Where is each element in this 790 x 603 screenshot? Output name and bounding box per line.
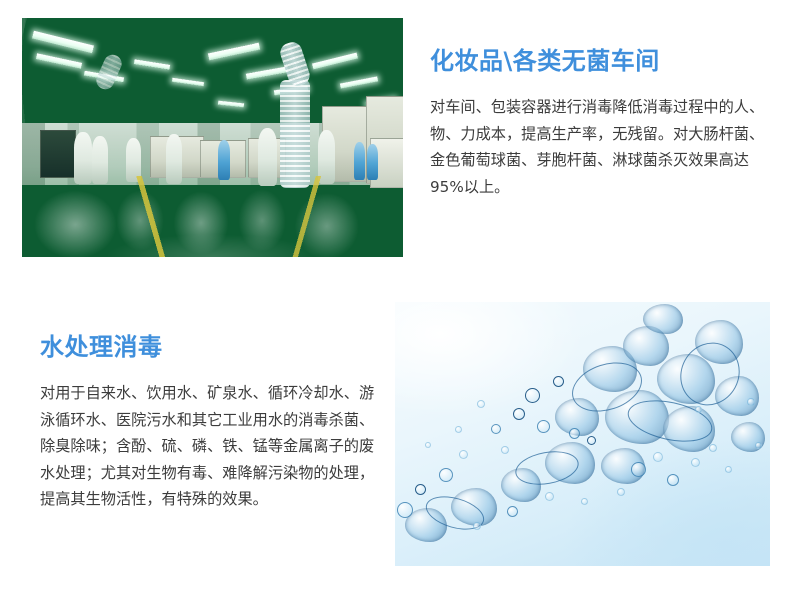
- cleanroom-photo: [22, 18, 403, 257]
- water-bubble: [537, 420, 550, 433]
- product-detail-page: 化妆品\各类无菌车间 对车间、包装容器进行消毒降低消毒过程中的人、物、力成本，提…: [0, 0, 790, 603]
- water-bubble: [725, 466, 732, 473]
- section-title-cosmetics: 化妆品\各类无菌车间: [430, 44, 770, 78]
- water-bubble: [569, 428, 580, 439]
- cleanroom-worker: [367, 144, 378, 180]
- water-bubble: [581, 498, 588, 505]
- water-bubble: [501, 446, 509, 454]
- water-bubble: [415, 484, 426, 495]
- water-bubble: [653, 452, 663, 462]
- water-bubble: [507, 506, 518, 517]
- water-bubble: [513, 408, 525, 420]
- water-bubble: [525, 388, 540, 403]
- water-bubble: [587, 436, 596, 445]
- water-bubble: [425, 442, 431, 448]
- water-bubbles-group: [395, 302, 770, 566]
- cleanroom-worker: [166, 134, 182, 184]
- section-body-water: 对用于自来水、饮用水、矿泉水、循环冷却水、游泳循环水、医院污水和其它工业用水的消…: [40, 380, 385, 513]
- cosmetics-text-block: 化妆品\各类无菌车间 对车间、包装容器进行消毒降低消毒过程中的人、物、力成本，提…: [430, 44, 770, 200]
- section-body-cosmetics: 对车间、包装容器进行消毒降低消毒过程中的人、物、力成本，提高生产率，无残留。对大…: [430, 94, 770, 200]
- cleanroom-floor: [22, 176, 403, 257]
- water-bubble: [617, 488, 625, 496]
- air-duct: [280, 80, 310, 188]
- cleanroom-worker: [258, 128, 277, 186]
- water-bubble: [747, 398, 755, 406]
- water-bubble: [545, 492, 554, 501]
- cleanroom-worker: [354, 142, 365, 180]
- water-bubble: [491, 424, 501, 434]
- cleanroom-worker: [318, 130, 335, 184]
- water-bubble: [691, 458, 700, 467]
- section-title-water: 水处理消毒: [40, 330, 385, 364]
- water-bubble: [473, 522, 481, 530]
- water-bubble: [631, 462, 646, 477]
- water-text-block: 水处理消毒 对用于自来水、饮用水、矿泉水、循环冷却水、游泳循环水、医院污水和其它…: [40, 330, 385, 513]
- cleanroom-worker: [126, 138, 141, 182]
- water-bubble: [455, 426, 462, 433]
- water-bubble: [667, 474, 679, 486]
- water-bubble: [459, 450, 468, 459]
- water-bubble: [397, 502, 413, 518]
- water-bubble: [439, 468, 453, 482]
- production-machine: [40, 130, 76, 178]
- water-bubble: [695, 406, 702, 413]
- cleanroom-worker: [92, 136, 108, 184]
- water-bubble: [553, 376, 564, 387]
- cleanroom-worker: [74, 132, 92, 184]
- water-splash-photo: [395, 302, 770, 566]
- water-bubble: [709, 444, 717, 452]
- water-blob: [643, 304, 683, 334]
- water-bubble: [477, 400, 485, 408]
- water-bubble: [755, 442, 762, 449]
- cleanroom-worker: [218, 140, 230, 180]
